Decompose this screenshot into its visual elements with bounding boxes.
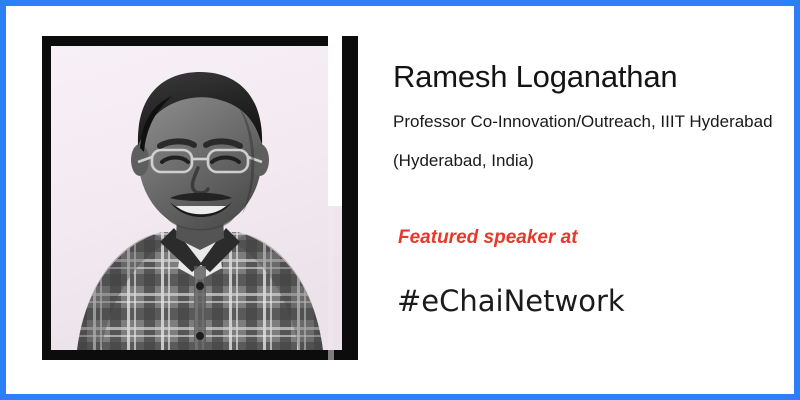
- speaker-announcement-card: Ramesh Loganathan Professor Co-Innovatio…: [0, 0, 800, 400]
- card-inner: Ramesh Loganathan Professor Co-Innovatio…: [6, 6, 794, 394]
- speaker-location: (Hyderabad, India): [393, 149, 534, 173]
- speaker-photo-frame: [42, 36, 358, 360]
- network-hashtag: #eChaiNetwork: [397, 282, 625, 320]
- speaker-details: Ramesh Loganathan Professor Co-Innovatio…: [393, 6, 800, 394]
- speaker-name: Ramesh Loganathan: [393, 58, 677, 96]
- speaker-role: Professor Co-Innovation/Outreach, IIIT H…: [393, 110, 773, 134]
- portrait-illustration: [42, 36, 358, 360]
- speaker-portrait-photo: [42, 36, 358, 360]
- featured-speaker-label: Featured speaker at: [398, 225, 578, 251]
